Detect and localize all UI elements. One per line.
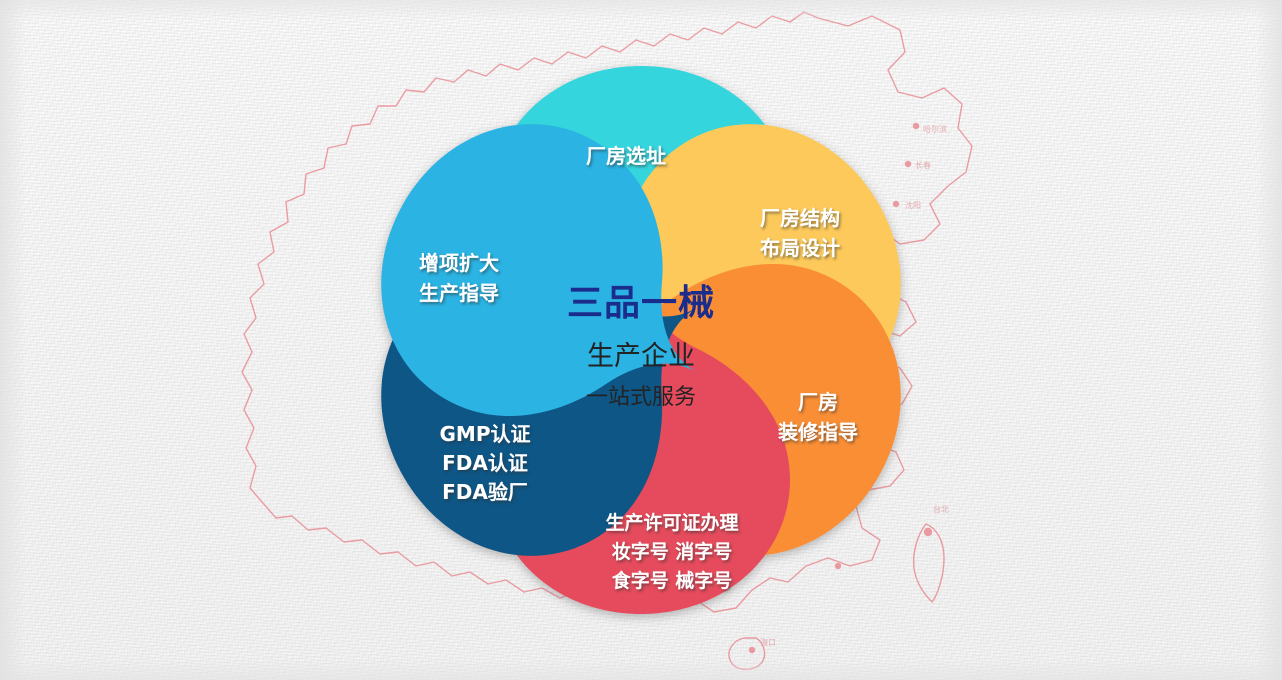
petal-label-line: 增项扩大: [419, 251, 499, 275]
petal-label-line: GMP认证: [440, 422, 531, 446]
petal-label-site-selection: 厂房选址: [586, 144, 666, 168]
center-subtitle: 生产企业: [587, 341, 695, 372]
petal-label-line: 生产许可证办理: [605, 511, 738, 534]
six-petal-pinwheel: 厂房选址厂房结构布局设计厂房装修指导生产许可证办理妆字号 消字号食字号 械字号G…: [0, 0, 1282, 680]
petal-label-line: 食字号 械字号: [612, 569, 733, 592]
center-tagline: 一站式服务: [586, 385, 696, 410]
center-title: 三品一械: [567, 283, 715, 324]
petal-label-line: 装修指导: [777, 420, 858, 444]
center-text-block: 三品一械 生产企业 一站式服务: [567, 283, 715, 410]
petal-label-gmp-fda-certification: GMP认证FDA认证FDA验厂: [440, 422, 531, 504]
petal-label-line: 布局设计: [760, 236, 840, 260]
petal-label-line: FDA认证: [442, 451, 528, 475]
petal-label-line: 厂房选址: [586, 144, 666, 168]
infographic-canvas: 哈尔滨长春沈阳北京西安郑州成都武汉上海台北广州昆明海口 厂房选址厂房结构布局设计…: [0, 0, 1282, 680]
petal-label-production-license: 生产许可证办理妆字号 消字号食字号 械字号: [605, 511, 738, 592]
petal-label-line: 厂房结构: [760, 206, 840, 230]
petal-label-line: FDA验厂: [442, 480, 528, 504]
petal-label-line: 厂房: [798, 390, 838, 414]
petal-label-line: 生产指导: [419, 281, 499, 305]
petal-label-line: 妆字号 消字号: [612, 540, 733, 563]
